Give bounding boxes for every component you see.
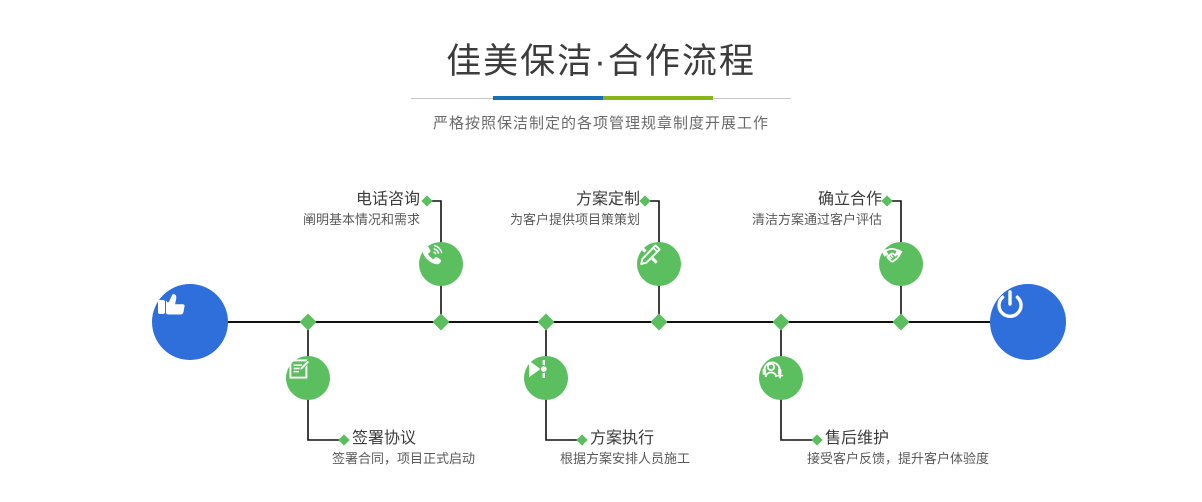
step-node-6[interactable] [759, 356, 803, 400]
step-title-3: 方案定制 [395, 190, 640, 210]
step-desc-5: 清洁方案通过客户评估 [637, 210, 882, 230]
step-label-6: 售后维护 接受客户反馈，提升客户体验度 [825, 429, 1105, 469]
process-flow-infographic: 佳美保洁·合作流程 严格按照保洁制定的各项管理规章制度开展工作 [0, 0, 1202, 502]
step-title-4: 方案执行 [590, 429, 850, 449]
step-label-3: 方案定制 为客户提供项目策策划 [395, 190, 640, 230]
step-title-6: 售后维护 [825, 429, 1105, 449]
label-diamond-markers [338, 195, 892, 445]
step-desc-6: 接受客户反馈，提升客户体验度 [807, 449, 1105, 469]
timeline-start-cap[interactable] [152, 284, 228, 360]
timeline: 电话咨询 阐明基本情况和需求 方案定制 为客户提供项目策策划 确立合作 清洁方案… [0, 0, 1202, 502]
step-title-2: 签署协议 [352, 429, 612, 449]
step-title-5: 确立合作 [637, 190, 882, 210]
step-node-2[interactable] [286, 356, 330, 400]
step-title-1: 电话咨询 [175, 190, 420, 210]
step-node-5[interactable] [879, 242, 923, 286]
step-label-5: 确立合作 清洁方案通过客户评估 [637, 190, 882, 230]
step-node-1[interactable] [419, 242, 463, 286]
step-label-1: 电话咨询 阐明基本情况和需求 [175, 190, 420, 230]
timeline-connectors [0, 0, 1202, 502]
step-desc-3: 为客户提供项目策策划 [395, 210, 640, 230]
step-desc-1: 阐明基本情况和需求 [175, 210, 420, 230]
step-node-3[interactable] [637, 242, 681, 286]
step-node-4[interactable] [524, 356, 568, 400]
timeline-end-cap[interactable] [990, 284, 1066, 360]
